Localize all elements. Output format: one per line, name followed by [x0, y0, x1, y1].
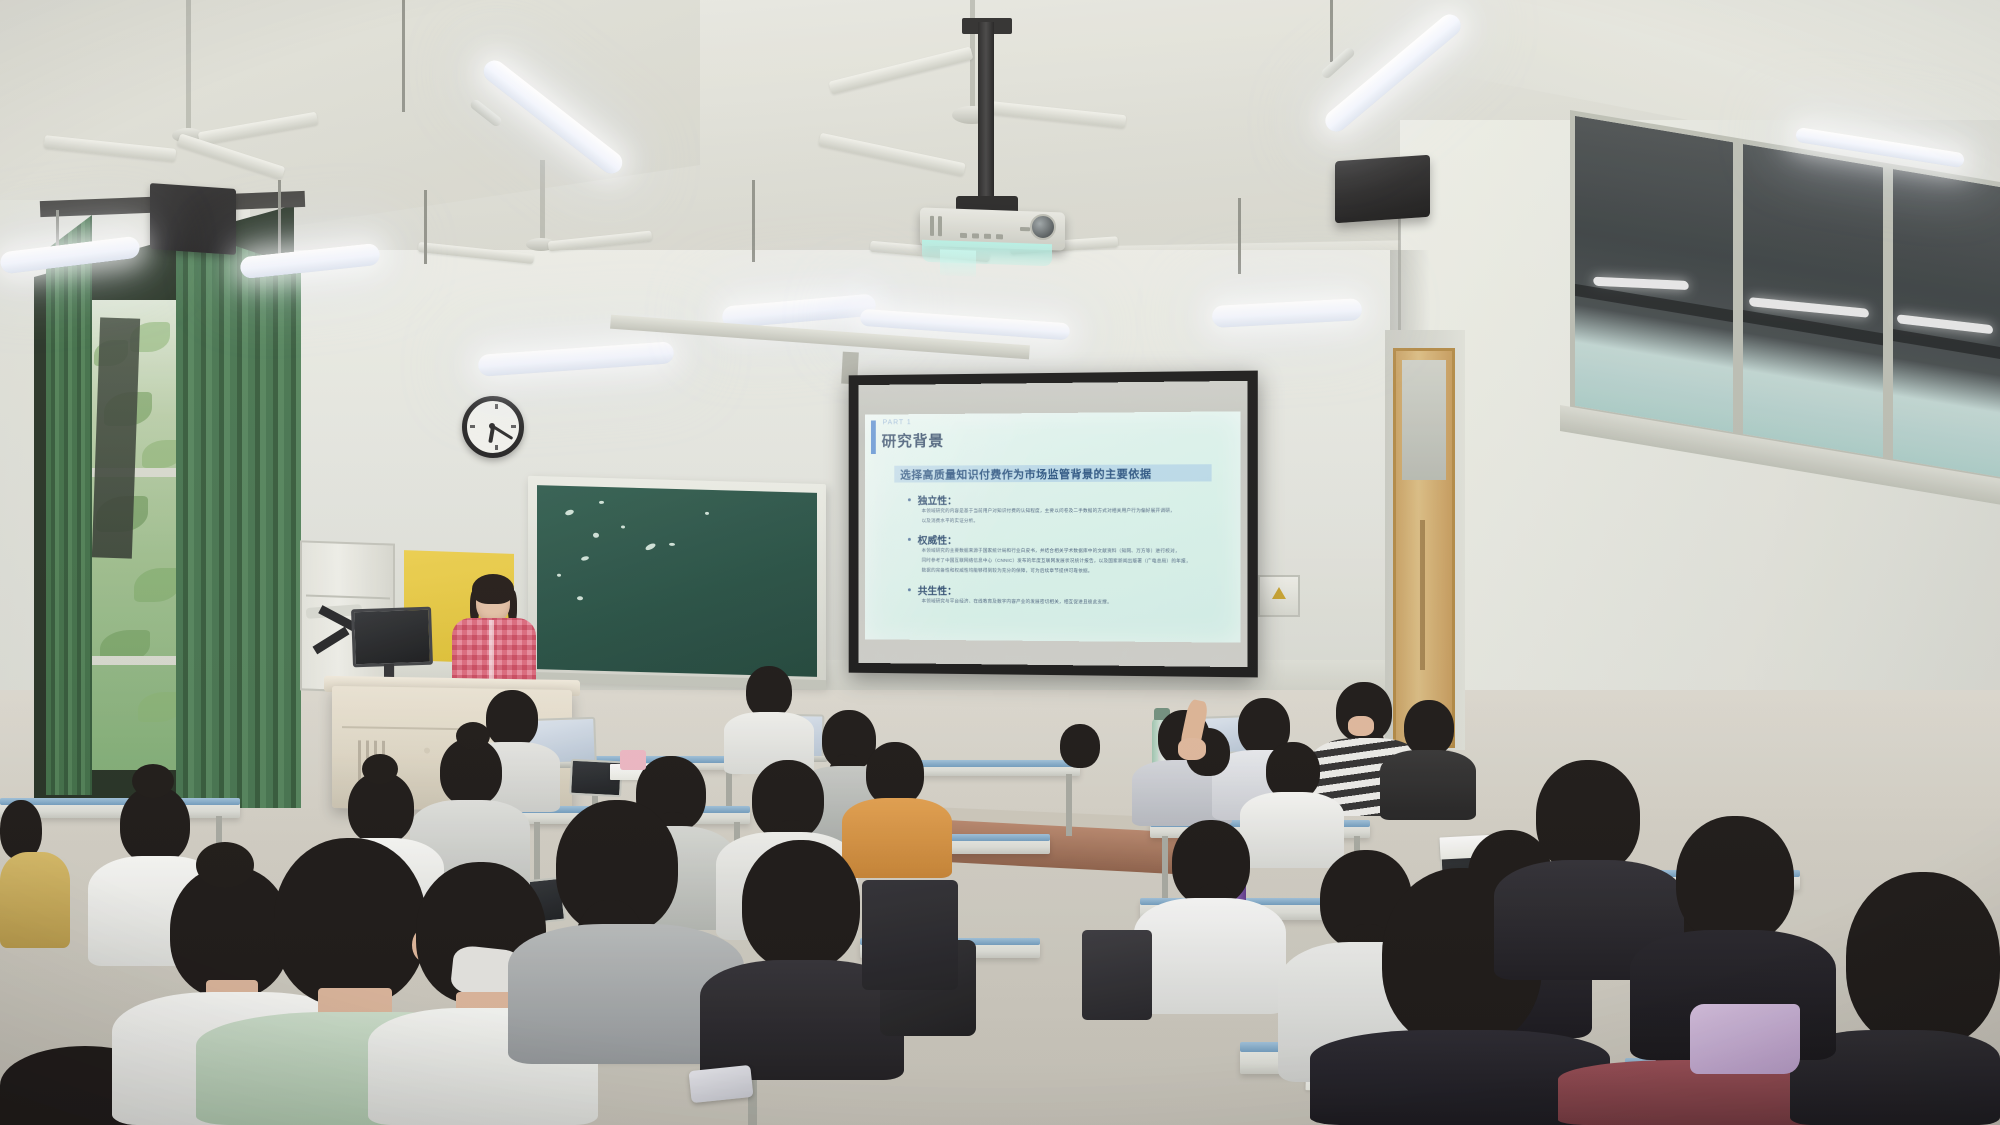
light-rod [424, 190, 427, 264]
slide-bullet-heading: 独立性： [918, 492, 957, 507]
slide-eyebrow: PART 1 [883, 419, 912, 426]
desk-edge [0, 798, 240, 805]
presentation-slide[interactable]: PART 1 研究背景 选择高质量知识付费作为市场监管背景的主要依据 独立性： … [865, 411, 1240, 642]
slide-body-line: 数据的完备性和权威性均能够得到较为充分的保障，可为后续章节提供可靠依据。 [922, 568, 1093, 575]
slide-bullet-dot [908, 538, 911, 541]
student-head [1404, 700, 1454, 756]
student-hand [1178, 738, 1206, 760]
slide-bullet-dot [908, 588, 911, 591]
window-pane [1570, 110, 1738, 438]
window-blind [92, 317, 140, 558]
student-body [1240, 792, 1344, 868]
door-groove [1420, 520, 1425, 670]
classroom-photo: PART 1 研究背景 选择高质量知识付费作为市场监管背景的主要依据 独立性： … [0, 0, 2000, 1125]
slide-accent-bar [871, 420, 876, 454]
projector-lens-icon [1030, 214, 1056, 240]
light-rod [752, 180, 755, 262]
chair-back [1082, 930, 1152, 1020]
projector-beam [940, 249, 976, 276]
window-pane [1738, 138, 1888, 463]
plastic-bag [1690, 1004, 1800, 1074]
curtain-left[interactable] [46, 215, 92, 795]
door-glass-panel [1402, 360, 1446, 480]
smartphone[interactable] [688, 1065, 753, 1103]
chair-back [862, 880, 958, 990]
slide-title: 研究背景 [882, 430, 945, 451]
student-head [1536, 760, 1640, 874]
light-rod [402, 0, 405, 112]
slide-subtitle: 选择高质量知识付费作为市场监管背景的主要依据 [900, 466, 1151, 483]
desk-leg [1066, 774, 1072, 836]
student-body [1380, 750, 1476, 820]
student-body [0, 852, 70, 948]
fan-rod [540, 160, 545, 242]
student-head [486, 690, 538, 748]
light-rod [56, 210, 59, 250]
pink-item [620, 750, 646, 770]
light-rod [1330, 0, 1333, 62]
slide-body-line: 以及消费水平的实证分析。 [922, 518, 979, 524]
blackboard [537, 485, 817, 677]
slide-bullet-heading: 共生性： [918, 582, 957, 597]
light-rod [278, 180, 281, 256]
student-hair-bun [362, 754, 398, 784]
student-head [0, 800, 42, 860]
student-hair-bun [456, 722, 490, 750]
slide-bullet-heading: 权威性： [918, 532, 957, 547]
slide-body-line: 本领域研究与平台经济、在线教育及数字内容产业的发展密切相关，相互促进且彼此支撑。 [922, 598, 1112, 605]
student-head [1060, 724, 1100, 768]
student-hair-bun [132, 764, 174, 798]
teacher-hair-top [472, 574, 514, 604]
clock-center-pin [489, 423, 495, 429]
student-head [1846, 872, 2000, 1048]
student-head [866, 742, 924, 806]
slide-body-line: 同时参考了中国互联网络信息中心（CNNIC）发布的年度互联网发展状况统计报告，以… [922, 558, 1191, 565]
student-head [746, 666, 792, 718]
window-pane [1888, 163, 2000, 483]
student-head [1676, 816, 1794, 944]
student-head [274, 838, 426, 1006]
student-hand [1348, 716, 1374, 736]
podium-monitor[interactable] [351, 607, 433, 668]
student-hair-bun [196, 842, 254, 888]
student-body [842, 798, 952, 878]
warning-triangle-icon [1272, 587, 1286, 599]
fan-rod [186, 0, 191, 132]
projector-mount-pole [978, 22, 994, 202]
slide-bullet-dot [908, 498, 911, 501]
slide-body-line: 本领域研究的主要数据来源于国家统计局和行业白皮书，并结合相关学术数据库中的文献资… [922, 548, 1180, 554]
wall-speaker-right-icon [1335, 155, 1430, 224]
student-head [742, 840, 860, 970]
student-body [1134, 898, 1286, 1014]
curtain-right[interactable] [176, 208, 301, 808]
light-rod [1238, 198, 1241, 274]
wall-speaker-left-icon [150, 183, 236, 255]
slide-body-line: 本领域研究的内容是基于当前用户对知识付费的认知程度，主要以问卷及二手数据的方式对… [922, 508, 1175, 514]
